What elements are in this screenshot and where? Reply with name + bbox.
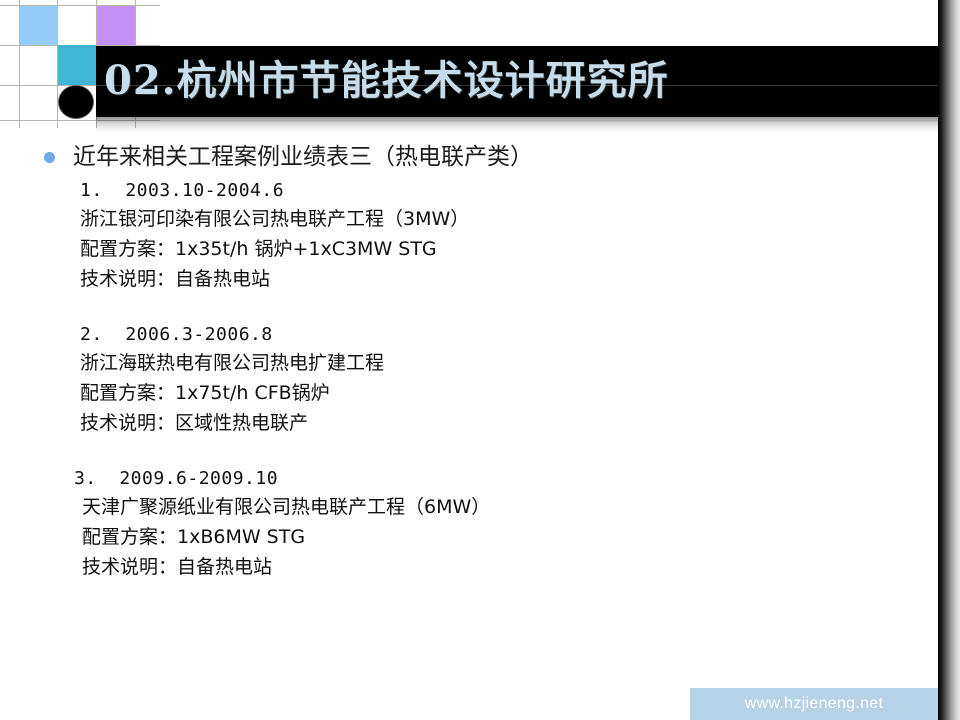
- entry-tech-note: 技术说明：区域性热电联产: [80, 408, 900, 438]
- entry-item: 2. 2006.3-2006.8 浙江海联热电有限公司热电扩建工程 配置方案：1…: [80, 322, 900, 438]
- entry-project: 天津广聚源纸业有限公司热电联产工程（6MW）: [82, 492, 900, 522]
- slide-title: 02.杭州市节能技术设计研究所: [104, 48, 669, 116]
- decorative-square-blue: [20, 6, 58, 45]
- entry-list: 1. 2003.10-2004.6 浙江银河印染有限公司热电联产工程（3MW） …: [80, 178, 900, 610]
- footer-watermark-text: www.hzjieneng.net: [690, 688, 938, 720]
- bullet-heading-text: 近年来相关工程案例业绩表三（热电联产类）: [73, 142, 533, 172]
- entry-project: 浙江银河印染有限公司热电联产工程（3MW）: [80, 204, 900, 234]
- decorative-square-teal: [58, 45, 96, 85]
- entry-config: 配置方案：1x35t/h 锅炉+1xC3MW STG: [80, 234, 900, 264]
- decorative-square-purple: [97, 6, 135, 45]
- entry-number: 3. 2009.6-2009.10: [74, 466, 900, 492]
- presentation-slide: 02.杭州市节能技术设计研究所 近年来相关工程案例业绩表三（热电联产类） 1. …: [0, 0, 960, 720]
- bullet-dot-icon: [44, 152, 55, 163]
- entry-tech-note: 技术说明：自备热电站: [80, 264, 900, 294]
- entry-config: 配置方案：1x75t/h CFB锅炉: [80, 378, 900, 408]
- entry-item: 1. 2003.10-2004.6 浙江银河印染有限公司热电联产工程（3MW） …: [80, 178, 900, 294]
- decorative-circle: [58, 85, 94, 119]
- entry-config: 配置方案：1xB6MW STG: [82, 522, 900, 552]
- entry-item: 3. 2009.6-2009.10 天津广聚源纸业有限公司热电联产工程（6MW）…: [74, 466, 900, 582]
- bullet-heading-row: 近年来相关工程案例业绩表三（热电联产类）: [44, 142, 533, 172]
- entry-tech-note: 技术说明：自备热电站: [82, 552, 900, 582]
- entry-project: 浙江海联热电有限公司热电扩建工程: [80, 348, 900, 378]
- title-bar-shadow: [96, 117, 938, 133]
- entry-number: 2. 2006.3-2006.8: [80, 322, 900, 348]
- entry-number: 1. 2003.10-2004.6: [80, 178, 900, 204]
- slide-edge-shadow: [938, 0, 960, 720]
